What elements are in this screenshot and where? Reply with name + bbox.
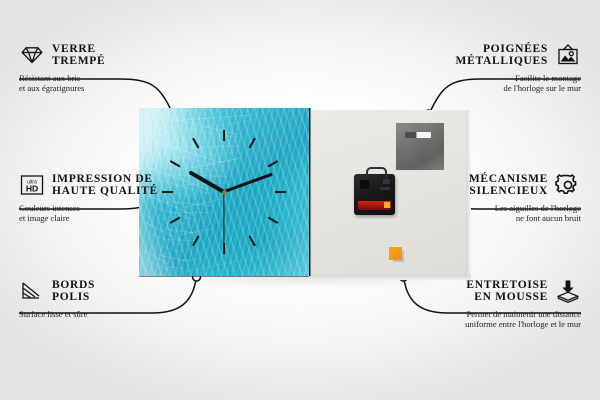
product-image bbox=[139, 108, 471, 276]
feature-title: BORDSPOLIS bbox=[52, 279, 95, 304]
metallic-hanger-plate bbox=[396, 123, 444, 170]
hand-cap bbox=[222, 190, 227, 195]
feature-title: MÉCANISMESILENCIEUX bbox=[469, 173, 548, 198]
feature-description: Résistant aux briset aux égratignures bbox=[19, 73, 105, 93]
feature-poignees: POIGNÉESMÉTALLIQUES Facilite le montaged… bbox=[456, 42, 581, 93]
clock-tick bbox=[224, 191, 286, 193]
feature-title: VERRETREMPÉ bbox=[52, 43, 105, 68]
clock-tick bbox=[223, 130, 225, 192]
feature-impression: ultra HD IMPRESSION DEHAUTE QUALITÉ Coul… bbox=[19, 172, 158, 223]
battery bbox=[358, 201, 391, 210]
polished-edges-icon bbox=[19, 278, 45, 304]
feature-description: Les aiguilles de l'horlogene font aucun … bbox=[469, 203, 581, 223]
gear-icon bbox=[555, 172, 581, 198]
clock-tick bbox=[162, 191, 224, 193]
feature-description: Couleurs intenseset image claire bbox=[19, 203, 158, 223]
diamond-icon bbox=[19, 42, 45, 68]
svg-text:HD: HD bbox=[26, 184, 38, 194]
feature-title: ENTRETOISEEN MOUSSE bbox=[466, 279, 548, 304]
mechanism-detail bbox=[360, 180, 369, 189]
feature-description: Surface lisse et sûre bbox=[19, 309, 95, 319]
feature-verre-trempe: VERRETREMPÉ Résistant aux briset aux égr… bbox=[19, 42, 105, 93]
clock-back-panel bbox=[310, 110, 471, 276]
foam-spacer-icon bbox=[555, 278, 581, 304]
battery-terminal bbox=[384, 202, 390, 208]
feature-bords-polis: BORDSPOLIS Surface lisse et sûre bbox=[19, 278, 95, 319]
feature-description: Facilite le montagede l'horloge sur le m… bbox=[456, 73, 581, 93]
feature-title: POIGNÉESMÉTALLIQUES bbox=[456, 43, 548, 68]
hanging-loop bbox=[366, 167, 387, 178]
feature-title: IMPRESSION DEHAUTE QUALITÉ bbox=[52, 173, 158, 198]
clock-face bbox=[139, 108, 309, 276]
infographic-canvas: VERRETREMPÉ Résistant aux briset aux égr… bbox=[0, 0, 600, 400]
feature-description: Permet de maintenir une distanceuniforme… bbox=[465, 309, 581, 329]
ultra-hd-icon: ultra HD bbox=[19, 172, 45, 198]
picture-frame-icon bbox=[555, 42, 581, 68]
quartz-mechanism bbox=[354, 174, 395, 215]
mechanism-detail bbox=[380, 187, 390, 190]
hanger-slot bbox=[405, 132, 431, 138]
foam-spacer bbox=[389, 247, 402, 260]
feature-mecanisme: MÉCANISMESILENCIEUX Les aiguilles de l'h… bbox=[469, 172, 581, 223]
panel-bottom-edge bbox=[310, 275, 471, 280]
feature-entretoise: ENTRETOISEEN MOUSSE Permet de maintenir … bbox=[465, 278, 581, 329]
mechanism-detail bbox=[383, 179, 390, 184]
